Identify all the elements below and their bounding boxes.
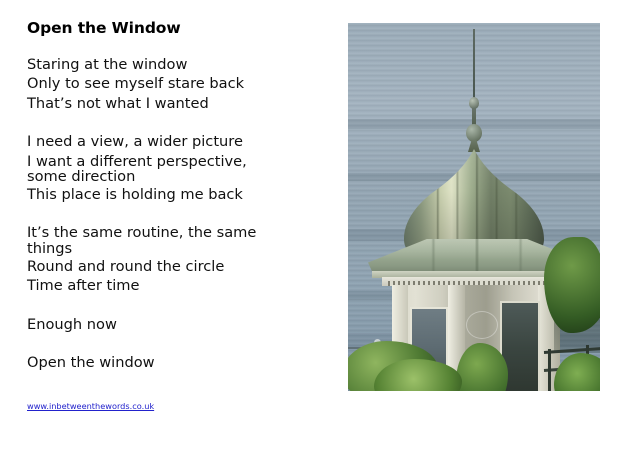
poem-line-continuation: some direction: [27, 169, 327, 185]
finial-lower-ball: [466, 124, 482, 142]
poem-line: Enough now: [27, 315, 327, 334]
poem-line: Open the window: [27, 353, 327, 372]
page-title: Open the Window: [27, 19, 327, 38]
finial-spire-icon: [473, 29, 475, 99]
poem-line: Time after time: [27, 276, 327, 295]
stanza-1: Staring at the window Only to see myself…: [27, 55, 327, 113]
pavilion-photo: [348, 23, 600, 391]
foliage-clump: [544, 237, 600, 333]
poem-line: That’s not what I wanted: [27, 94, 327, 113]
photo-inner: [348, 23, 600, 391]
stanza-4: Enough now: [27, 315, 327, 334]
poem-line: I need a view, a wider picture: [27, 132, 327, 151]
poem-text-column: Open the Window Staring at the window On…: [27, 19, 327, 372]
poem-line-continuation: things: [27, 241, 327, 257]
poem-body: Staring at the window Only to see myself…: [27, 55, 327, 372]
railing-post: [548, 349, 551, 391]
poem-slide: Open the Window Staring at the window On…: [0, 0, 640, 472]
stanza-5: Open the window: [27, 353, 327, 372]
poem-line: Staring at the window: [27, 55, 327, 74]
stanza-2: I need a view, a wider picture I want a …: [27, 132, 327, 204]
website-url-link[interactable]: www.inbetweenthewords.co.uk: [27, 401, 154, 412]
chalk-graffiti: [466, 311, 498, 339]
stanza-3: It’s the same routine, the same things R…: [27, 223, 327, 295]
poem-line: This place is holding me back: [27, 185, 327, 204]
poem-line: Only to see myself stare back: [27, 74, 327, 93]
poem-line: Round and round the circle: [27, 257, 327, 276]
